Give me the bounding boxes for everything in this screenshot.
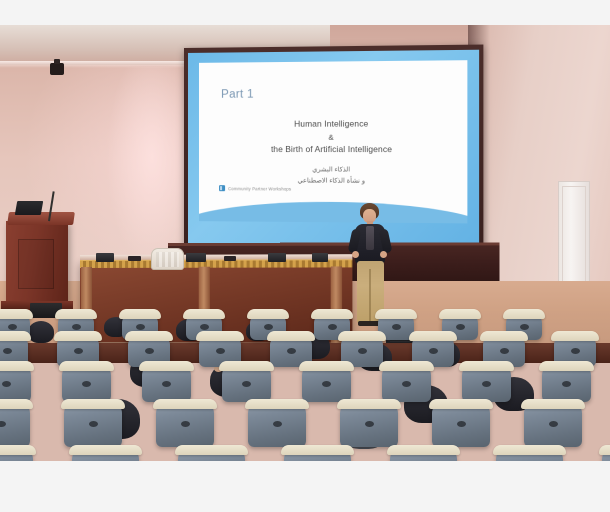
presenter-top [366,226,374,250]
auditorium-seat [62,365,111,402]
auditorium-seat [340,403,398,447]
auditorium-seat [72,449,139,461]
table-laptop-icon [312,253,328,262]
lecture-hall-photo: Part 1 Human Intelligence & the Birth of… [0,25,610,461]
auditorium-seat [496,449,563,461]
slide-content-area: Part 1 Human Intelligence & the Birth of… [199,60,467,223]
presenter-left-hand [352,251,359,258]
screenshot-canvas: Part 1 Human Intelligence & the Birth of… [0,0,610,512]
auditorium-seat [382,365,431,402]
auditorium-seat [222,365,271,402]
auditorium-seat [302,365,351,402]
auditorium-seating [0,313,610,461]
auditorium-seat [284,449,351,461]
slide-footer: Community Partner Workshops [219,185,291,191]
auditorium-seat [542,365,591,402]
auditorium-seat [0,449,33,461]
auditorium-seat [142,365,191,402]
auditorium-seat [462,365,511,402]
auditorium-seat [524,403,582,447]
slide-title-line-3: the Birth of Artificial Intelligence [199,144,467,157]
workshop-logo-icon [219,185,225,191]
auditorium-seat [390,449,457,461]
table-laptop-icon [268,253,286,262]
slide-footer-text: Community Partner Workshops [228,186,291,191]
auditorium-seat [432,403,490,447]
auditorium-seat [178,449,245,461]
wood-panel-highlight [168,242,500,246]
lectern-front-panel [18,239,54,289]
auditorium-seat [248,403,306,447]
table-laptop-icon [96,253,114,262]
slide-title-block: Human Intelligence & the Birth of Artifi… [199,118,467,157]
slide-part-label: Part 1 [221,89,254,101]
table-laptop-icon [186,253,206,262]
table-item [128,256,141,261]
auditorium-seat [602,449,610,461]
presentation-slide: Part 1 Human Intelligence & the Birth of… [188,50,479,247]
lectern-laptop-icon [15,201,43,215]
projection-screen: Part 1 Human Intelligence & the Birth of… [184,45,483,252]
table-item [224,256,236,261]
slide-title-ampersand: & [199,131,467,144]
slide-title-line-1: Human Intelligence [199,118,467,132]
auditorium-seat [64,403,122,447]
presenter-right-hand [380,251,387,258]
white-chair [151,248,184,270]
slide-arabic-block: الذكاء البشري و نشأة الذكاء الاصطناعي [199,165,467,187]
auditorium-seat [0,365,31,402]
auditorium-seat [0,403,30,447]
slide-wave-decoration [199,195,467,223]
wooden-lectern [6,221,68,303]
auditorium-seat [156,403,214,447]
ceiling-spotlight-icon [50,63,64,75]
